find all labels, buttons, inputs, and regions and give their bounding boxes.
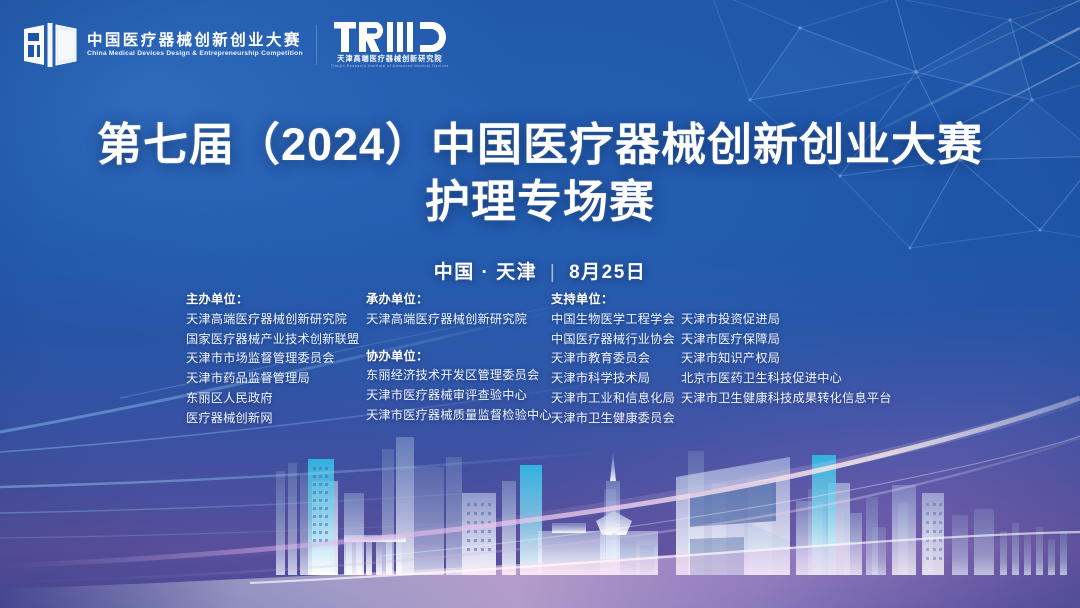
organizers-column-support-right: 天津市投资促进局 天津市医疗保障局 天津市知识产权局 北京市医药卫生科技促进中心… [681,290,892,409]
host-heading: 主办单位： [186,290,366,310]
dateline-separator: | [550,262,556,283]
support-item: 天津市卫生健康科技成果转化信息平台 [681,389,892,409]
organizers-column-host: 主办单位： 天津高端医疗器械创新研究院 国家医疗器械产业技术创新联盟 天津市市场… [186,290,366,428]
column-gap [366,330,551,347]
support-item: 中国医疗器械行业协会 [551,330,681,350]
title-line-1: 第七届（2024）中国医疗器械创新创业大赛 [0,118,1080,173]
organizer-item: 天津高端医疗器械创新研究院 [366,310,551,330]
host-item: 天津高端医疗器械创新研究院 [186,310,366,330]
host-item: 国家医疗器械产业技术创新联盟 [186,330,366,350]
poster-canvas: 中国医疗器械创新创业大赛 China Medical Devices Desig… [0,0,1080,608]
organizer-heading: 承办单位： [366,290,551,310]
support-item: 中国生物医学工程学会 [551,310,681,330]
trmd-institute-logo: 天津高端医疗器械创新研究院 Tianjin Research Institute… [331,22,449,69]
organizations-block: 主办单位： 天津高端医疗器械创新研究院 国家医疗器械产业技术创新联盟 天津市市场… [186,290,892,428]
title-line-2: 护理专场赛 [0,173,1080,231]
organizers-column-support-left: 支持单位： 中国生物医学工程学会 中国医疗器械行业协会 天津市教育委员会 天津市… [551,290,681,428]
support-item: 天津市卫生健康委员会 [551,409,681,429]
support-item: 天津市教育委员会 [551,349,681,369]
competition-name-cn: 中国医疗器械创新创业大赛 [87,33,302,49]
host-item: 东丽区人民政府 [186,389,366,409]
support-heading: 支持单位： [551,290,681,310]
coorganizer-item: 天津市医疗器械质量监督检验中心 [366,406,551,426]
support-item: 天津市投资促进局 [681,310,892,330]
coorganizer-item: 天津市医疗器械审评查验中心 [366,386,551,406]
competition-logo-text: 中国医疗器械创新创业大赛 China Medical Devices Desig… [87,33,302,58]
support-item: 天津市科学技术局 [551,369,681,389]
event-dateline: 中国 · 天津 | 8月25日 [0,257,1080,284]
organizers-column-organizer: 承办单位： 天津高端医疗器械创新研究院 协办单位： 东丽经济技术开发区管理委员会… [366,290,551,426]
logo-divider [316,25,317,65]
coorganizer-item: 东丽经济技术开发区管理委员会 [366,366,551,386]
trmd-wordmark-icon [334,22,446,52]
support-item: 天津市知识产权局 [681,349,892,369]
trmd-institute-name-en: Tianjin Research Institute of Advanced M… [331,65,449,69]
host-item: 医疗器械创新网 [186,409,366,429]
support-item: 天津市工业和信息化局 [551,389,681,409]
column-spacer [681,290,892,310]
host-item: 天津市市场监督管理委员会 [186,349,366,369]
poster-header: 中国医疗器械创新创业大赛 China Medical Devices Desig… [22,22,449,69]
coorganizer-heading: 协办单位： [366,347,551,367]
page-title: 第七届（2024）中国医疗器械创新创业大赛 护理专场赛 [0,118,1080,230]
event-location: 中国 · 天津 [434,262,537,283]
open-book-logo-icon [22,23,78,67]
support-item: 北京市医药卫生科技促进中心 [681,369,892,389]
event-date: 8月25日 [569,262,646,283]
competition-name-en: China Medical Devices Design & Entrepren… [87,51,306,58]
trmd-institute-name-cn: 天津高端医疗器械创新研究院 [337,55,442,62]
support-item: 天津市医疗保障局 [681,330,892,350]
host-item: 天津市药品监督管理局 [186,369,366,389]
competition-logo: 中国医疗器械创新创业大赛 China Medical Devices Desig… [22,23,302,67]
